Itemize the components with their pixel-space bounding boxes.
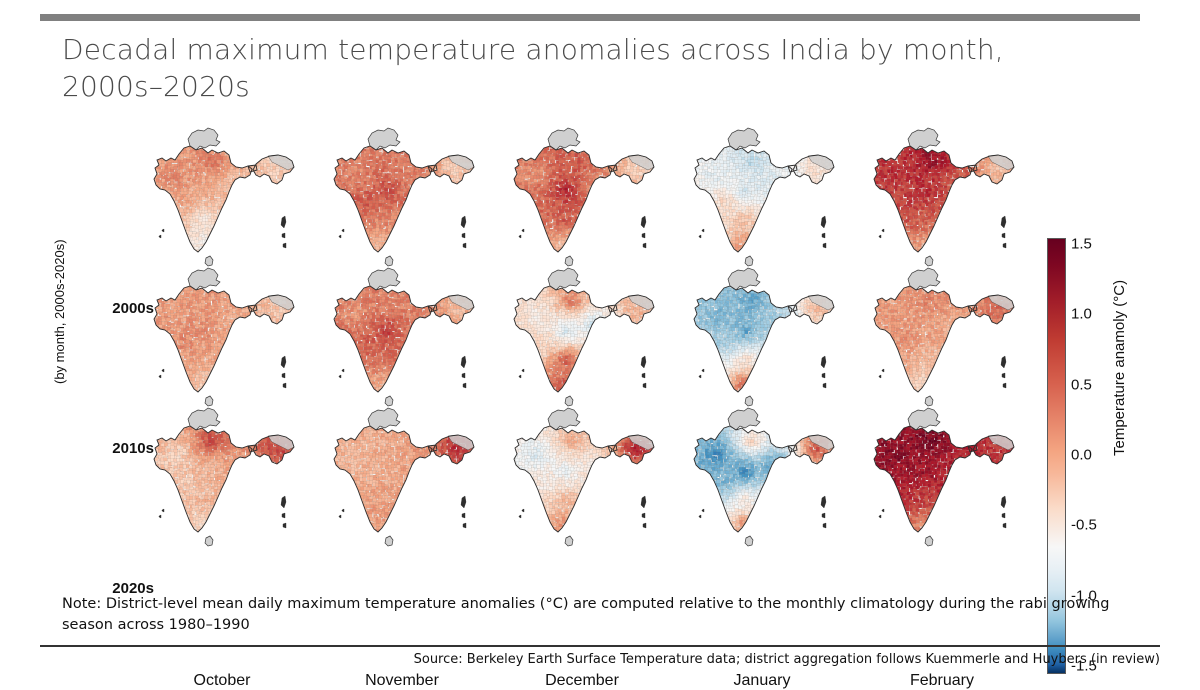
colorbar-tick-1neg0: 1.0 [1071,306,1092,323]
small-multiples-figure: (by month, 2000s-2020s) 2000s 2010s 2020… [0,112,1200,582]
andaman-island [641,496,646,508]
kashmir-nodata-region [548,128,580,150]
lakshadweep-island-south [519,515,521,518]
lakshadweep-island-north [162,509,164,512]
lakshadweep-island-north [342,509,344,512]
kashmir-nodata-region [188,128,220,150]
map-panel-2000s-december [492,122,672,267]
map-panel-2010s-october [132,262,312,407]
andaman-island [1001,356,1006,368]
nicobar-island-south [1003,383,1006,388]
map-panel-2020s-november [312,402,492,547]
map-panel-2000s-february [852,122,1032,267]
nicobar-island-south [643,383,646,388]
lakshadweep-island-north [702,229,704,232]
nicobar-island-north [282,373,285,378]
nicobar-island-north [642,513,645,518]
lakshadweep-island-south [699,375,701,378]
colorbar-tick-0neg0: 0.0 [1071,447,1092,464]
y-axis-label: (by month, 2000s-2020s) [52,164,67,384]
andaman-island [461,216,466,228]
lakshadweep-island-south [159,235,161,238]
map-panel-2010s-february [852,262,1032,407]
lakshadweep-island-north [702,369,704,372]
figure-source: Source: Berkeley Earth Surface Temperatu… [40,652,1166,667]
lakshadweep-island-south [879,515,881,518]
kashmir-nodata-region [908,128,940,150]
nicobar-island-south [1003,523,1006,528]
nicobar-island-south [643,523,646,528]
kashmir-nodata-region [188,408,220,430]
lakshadweep-island-south [519,375,521,378]
lakshadweep-island-south [339,515,341,518]
nicobar-island-south [463,523,466,528]
lakshadweep-island-north [522,229,524,232]
map-panel-2000s-november [312,122,492,267]
nicobar-island-north [1002,513,1005,518]
lakshadweep-island-south [699,235,701,238]
andaman-island [1001,496,1006,508]
colorbar-tick-1neg5: 1.5 [1071,236,1092,253]
kashmir-nodata-region [908,268,940,290]
andaman-island [1001,216,1006,228]
nicobar-island-north [822,513,825,518]
andaman-island [281,356,286,368]
lakshadweep-island-south [879,235,881,238]
lakshadweep-island-north [522,369,524,372]
colorbar-title: Temperature anamoly (°C) [1111,280,1128,456]
nicobar-island-north [1002,373,1005,378]
kashmir-nodata-region [368,408,400,430]
nicobar-island-south [823,383,826,388]
nicobar-island-north [822,373,825,378]
kashmir-nodata-region [728,408,760,430]
map-panel-2000s-january [672,122,852,267]
sri-lanka-nodata-region [205,536,213,546]
andaman-island [281,216,286,228]
nicobar-island-south [463,243,466,248]
nicobar-island-north [642,373,645,378]
sri-lanka-nodata-region [925,536,933,546]
map-panel-2020s-october [132,402,312,547]
sri-lanka-nodata-region [565,536,573,546]
andaman-island [821,496,826,508]
map-panel-2000s-october [132,122,312,267]
nicobar-island-north [282,233,285,238]
map-panel-2020s-december [492,402,672,547]
nicobar-island-south [283,523,286,528]
lakshadweep-island-north [882,509,884,512]
sri-lanka-nodata-region [745,536,753,546]
andaman-island [821,356,826,368]
map-panel-2010s-january [672,262,852,407]
andaman-island [461,496,466,508]
lakshadweep-island-south [519,235,521,238]
andaman-island [641,356,646,368]
lakshadweep-island-south [699,515,701,518]
andaman-island [461,356,466,368]
nicobar-island-north [462,233,465,238]
nicobar-island-north [1002,233,1005,238]
lakshadweep-island-north [162,229,164,232]
lakshadweep-island-south [159,375,161,378]
nicobar-island-south [1003,243,1006,248]
andaman-island [821,216,826,228]
kashmir-nodata-region [548,408,580,430]
lakshadweep-island-north [342,369,344,372]
nicobar-island-south [823,523,826,528]
nicobar-island-north [282,513,285,518]
map-panel-2010s-december [492,262,672,407]
sri-lanka-nodata-region [385,536,393,546]
figure-note: Note: District-level mean daily maximum … [62,594,1122,635]
nicobar-island-south [283,383,286,388]
nicobar-island-north [642,233,645,238]
nicobar-island-south [283,243,286,248]
kashmir-nodata-region [728,268,760,290]
map-panel-2020s-february [852,402,1032,547]
bottom-divider-rule [40,645,1160,647]
map-panel-2020s-january [672,402,852,547]
nicobar-island-south [823,243,826,248]
lakshadweep-island-north [882,369,884,372]
lakshadweep-island-north [522,509,524,512]
kashmir-nodata-region [368,268,400,290]
figure-page: Decadal maximum temperature anomalies ac… [0,0,1200,675]
kashmir-nodata-region [368,128,400,150]
kashmir-nodata-region [188,268,220,290]
lakshadweep-island-north [702,509,704,512]
andaman-island [641,216,646,228]
lakshadweep-island-south [339,375,341,378]
lakshadweep-island-south [879,375,881,378]
top-divider-rule [40,14,1140,21]
nicobar-island-north [462,513,465,518]
lakshadweep-island-north [342,229,344,232]
lakshadweep-island-north [162,369,164,372]
nicobar-island-north [822,233,825,238]
page-title: Decadal maximum temperature anomalies ac… [62,32,1062,106]
lakshadweep-island-south [159,515,161,518]
map-panel-2010s-november [312,262,492,407]
kashmir-nodata-region [728,128,760,150]
kashmir-nodata-region [908,408,940,430]
lakshadweep-island-south [339,235,341,238]
colorbar-tick-neg0-5: -0.5 [1071,517,1097,534]
kashmir-nodata-region [548,268,580,290]
andaman-island [281,496,286,508]
nicobar-island-south [463,383,466,388]
lakshadweep-island-north [882,229,884,232]
nicobar-island-south [643,243,646,248]
colorbar-tick-0neg5: 0.5 [1071,376,1092,393]
nicobar-island-north [462,373,465,378]
